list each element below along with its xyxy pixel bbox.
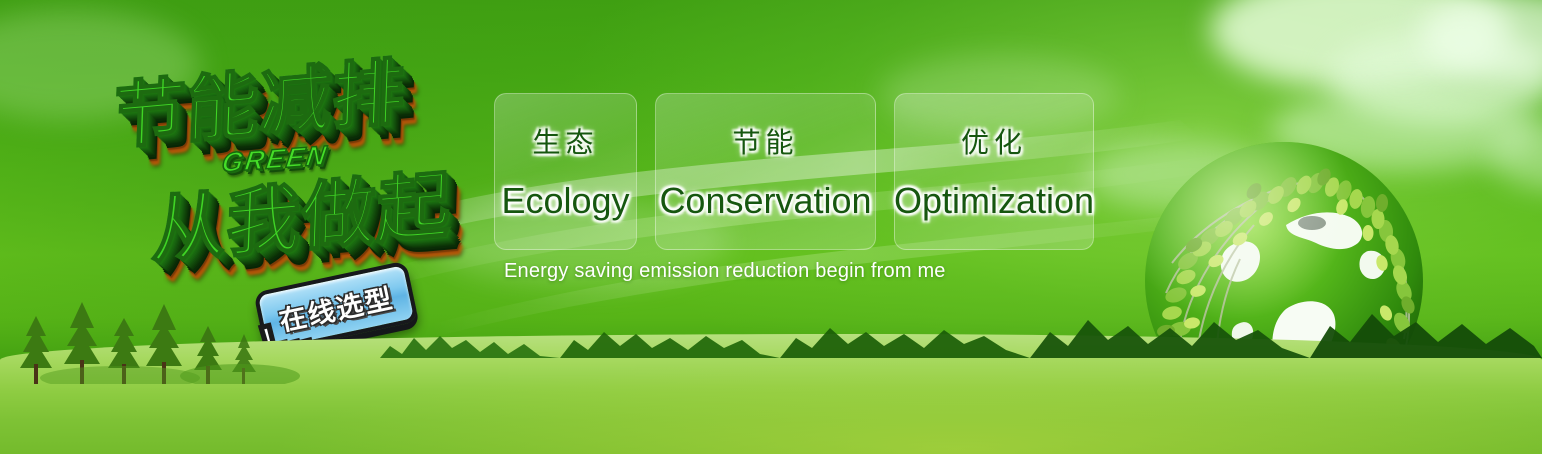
feature-card-en-label: Conservation — [659, 180, 871, 222]
cloud-icon — [1330, 30, 1542, 125]
feature-card-cn-label: 节能 — [732, 121, 798, 161]
headline-3d: 节能减排 GREEN 从我做起 — [96, 28, 511, 290]
grass-field-icon — [0, 334, 1542, 454]
headline-line-1: 节能减排 — [112, 32, 407, 163]
online-selection-button-label: 在线选型 — [275, 276, 397, 338]
feature-card-conservation[interactable]: 节能 Conservation — [655, 93, 876, 250]
eco-hero-banner: 节能减排 GREEN 从我做起 在线选型 生态 Ecology 节能 Conse… — [0, 0, 1542, 454]
cloud-icon — [1210, 0, 1510, 90]
feature-card-en-label: Optimization — [894, 180, 1094, 222]
feature-card-optimization[interactable]: 优化 Optimization — [894, 93, 1094, 250]
headline-line-2: 从我做起 — [150, 145, 453, 279]
feature-card-en-label: Ecology — [501, 180, 629, 222]
cloud-icon — [1420, 0, 1542, 80]
banner-subtitle: Energy saving emission reduction begin f… — [504, 260, 946, 283]
feature-card-cn-label: 生态 — [532, 121, 598, 161]
cloud-icon — [1490, 120, 1542, 190]
feature-card-cn-label: 优化 — [961, 121, 1027, 161]
feature-card-list: 生态 Ecology 节能 Conservation 优化 Optimizati… — [494, 93, 1094, 250]
feature-card-ecology[interactable]: 生态 Ecology — [494, 93, 637, 250]
